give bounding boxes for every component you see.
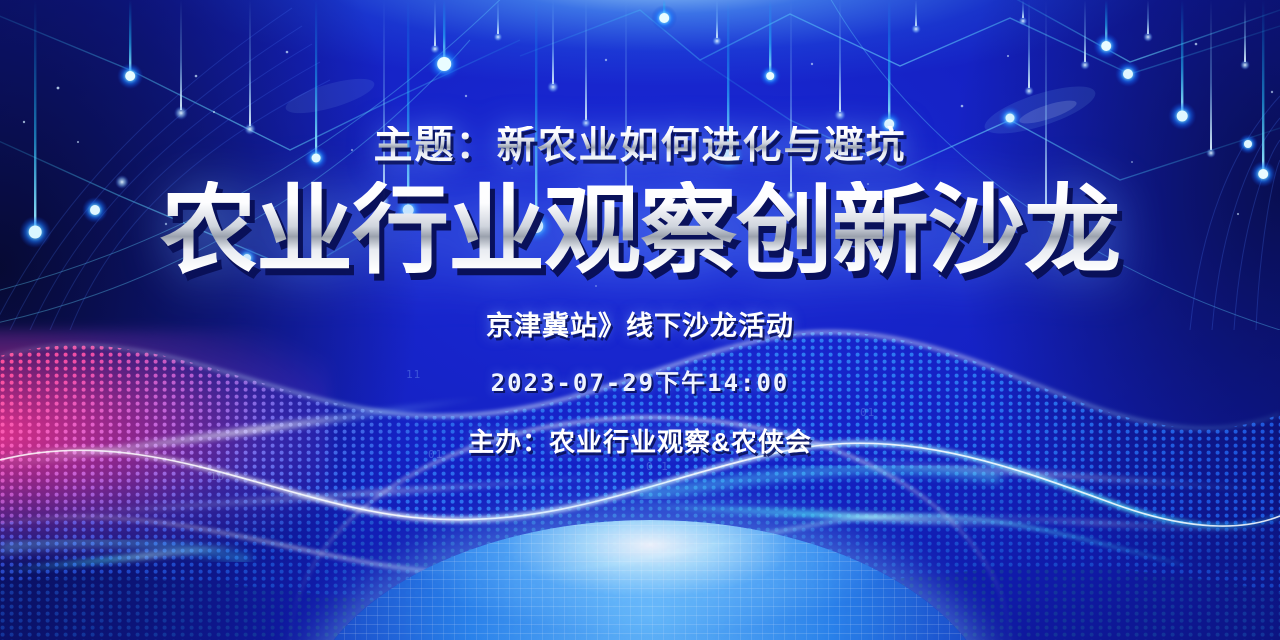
glyph-mark: 11: [406, 368, 421, 381]
event-poster: 10 01 0 1 11 01 主题：新农业如何进化与避坑 农业行业观察创新沙龙…: [0, 0, 1280, 640]
theme-line: 主题：新农业如何进化与避坑: [373, 126, 906, 165]
glyph-mark: 10: [210, 470, 225, 483]
datetime-line: 2023-07-29下午14:00: [491, 363, 790, 398]
page-title: 农业行业观察创新沙龙: [160, 181, 1120, 282]
station-line: 京津冀站》线下沙龙活动: [486, 304, 794, 343]
glyph-mark: 01: [860, 406, 875, 419]
host-line: 主办：农业行业观察&农侠会: [468, 422, 812, 459]
